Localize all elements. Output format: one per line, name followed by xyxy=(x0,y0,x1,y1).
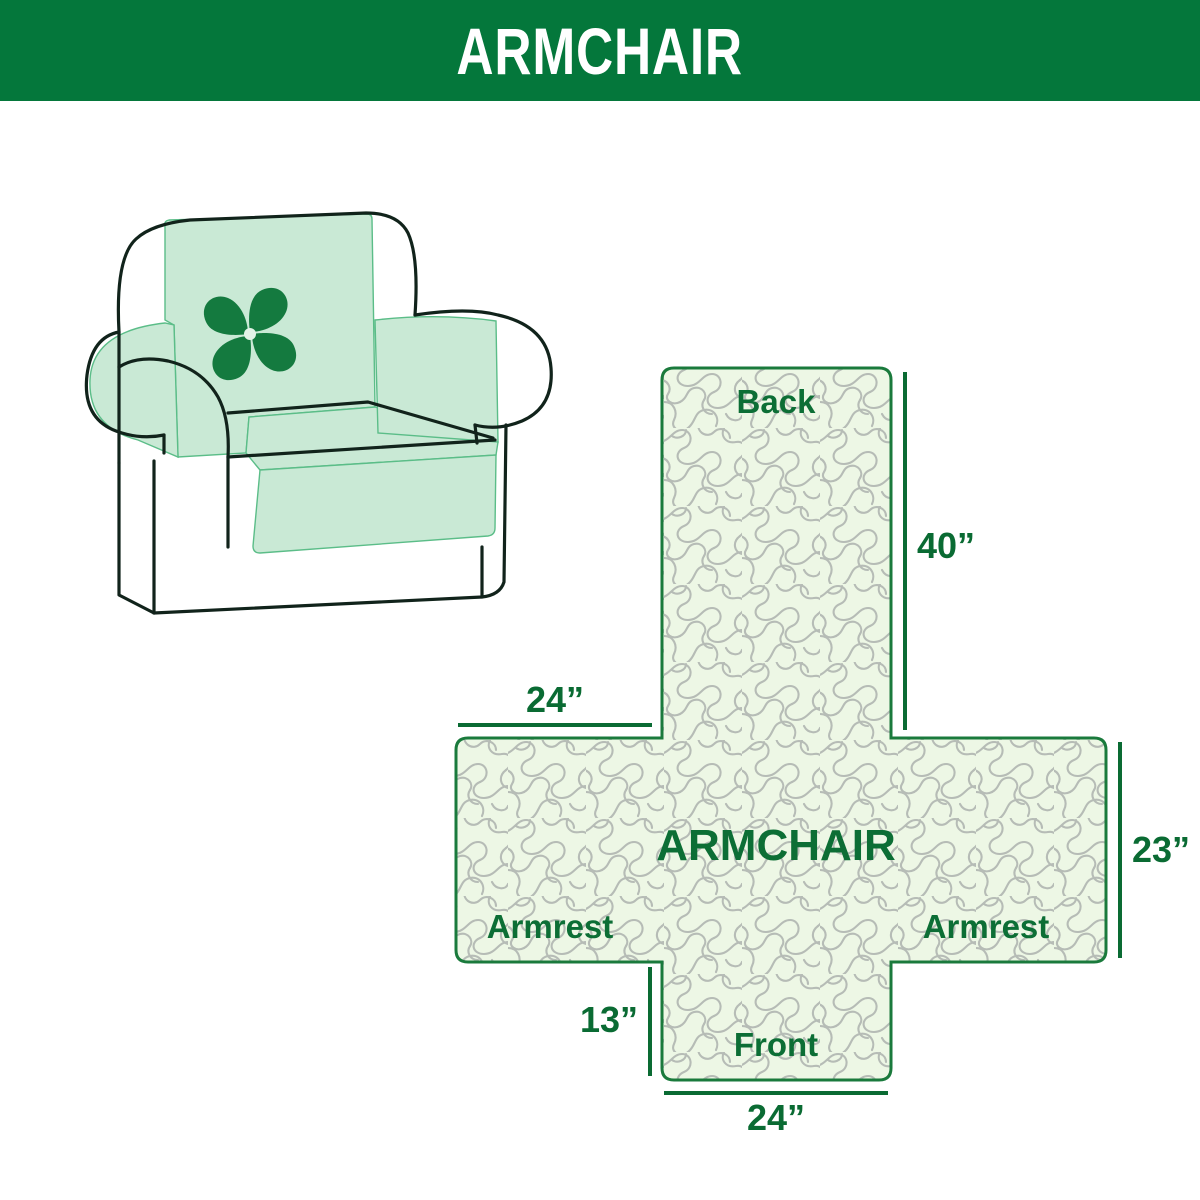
slipcover-pattern-diagram: Back Armrest Armrest Front ARMCHAIR 40” … xyxy=(430,350,1200,1140)
cross-pattern-shape xyxy=(430,350,1200,1140)
dimension-label-front-height: 13” xyxy=(580,999,638,1040)
panel-label-back: Back xyxy=(737,383,817,420)
pattern-center-label: ARMCHAIR xyxy=(656,821,896,870)
dimension-label-armrest-height: 23” xyxy=(1132,829,1190,870)
dimension-label-front-width: 24” xyxy=(747,1097,805,1138)
armchair-size-diagram-page: ARMCHAIR xyxy=(0,0,1200,1200)
header-banner: ARMCHAIR xyxy=(0,0,1200,101)
page-title: ARMCHAIR xyxy=(457,18,743,84)
panel-label-armrest-left: Armrest xyxy=(487,908,614,945)
panel-label-armrest-right: Armrest xyxy=(923,908,1050,945)
dimension-label-back-height: 40” xyxy=(917,525,975,566)
panel-label-front: Front xyxy=(734,1026,818,1063)
dimension-label-back-width: 24” xyxy=(526,679,584,720)
